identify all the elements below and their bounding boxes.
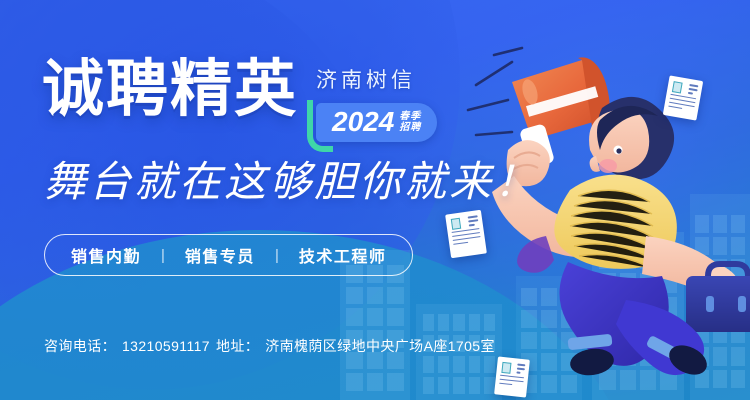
year-number: 2024	[332, 108, 394, 136]
job-role-item[interactable]: 销售专员	[185, 243, 255, 267]
badge-subtext: 春季 招聘	[399, 111, 421, 133]
phone-label: 咨询电话：	[44, 338, 116, 354]
role-separator: |	[141, 247, 185, 264]
year-badge: 2024 春季 招聘	[316, 103, 437, 142]
headline-row: 诚聘精英 济南树信 2024 春季 招聘	[42, 58, 437, 142]
contact-info: 咨询电话：13210591117地址：济南槐荫区绿地中央广场A座1705室	[44, 336, 501, 356]
brand-name: 济南树信	[316, 64, 437, 94]
brand-block: 济南树信 2024 春季 招聘	[316, 58, 437, 142]
job-role-item[interactable]: 销售内勤	[71, 243, 141, 267]
phone-number[interactable]: 13210591117	[122, 338, 210, 354]
badge-subtext-line1: 春季	[399, 111, 421, 122]
address-label: 地址：	[216, 338, 259, 354]
recruitment-banner: 诚聘精英 济南树信 2024 春季 招聘 舞台就在这够胆你就来！ 销售内勤 | …	[0, 0, 750, 400]
job-role-item[interactable]: 技术工程师	[299, 243, 387, 267]
role-separator: |	[255, 247, 299, 264]
badge-subtext-line2: 招聘	[399, 122, 421, 133]
subheadline: 舞台就在这够胆你就来！	[44, 158, 539, 206]
page-title: 诚聘精英	[42, 58, 298, 122]
address-value: 济南槐荫区绿地中央广场A座1705室	[265, 338, 495, 354]
job-roles-pill: 销售内勤 | 销售专员 | 技术工程师	[44, 234, 413, 276]
